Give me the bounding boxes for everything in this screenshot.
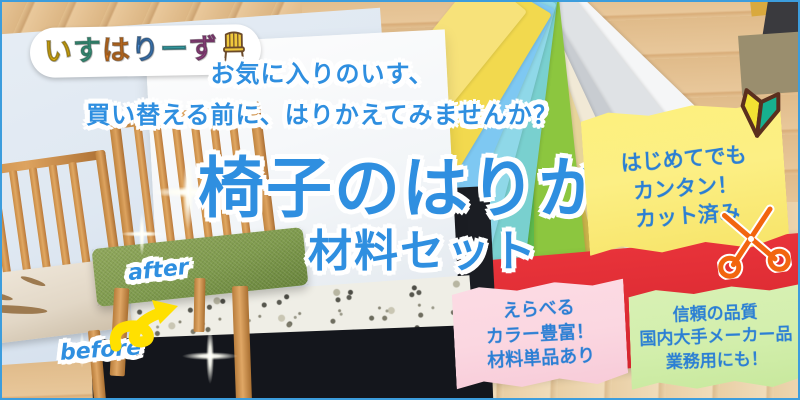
card-green-line-1: 信頼の品質 [672,301,758,327]
card-green-line-2: 国内大手メーカー品 [639,324,793,353]
tagline-line-1: お気に入りのいす、 [2,54,642,89]
scissors-icon [709,197,793,281]
card-pink-line-3: 材料単品あり [487,345,596,375]
curved-arrow-icon [108,294,194,356]
card-green-line-3: 業務用にも！ [665,348,768,375]
promo-banner: い す は り ー ず お気に入りのいす、 買い替える前に、はりかえてみませんか… [0,0,800,400]
card-pink-line-1: えらべる [502,296,575,325]
tagline: お気に入りのいす、 買い替える前に、はりかえてみませんか？ [2,54,642,130]
tagline-line-2: 買い替える前に、はりかえてみませんか？ [2,95,642,130]
wakaba-beginner-icon [735,84,785,141]
feature-card-green: 信頼の品質 国内大手メーカー品 業務用にも！ [628,283,800,393]
page-subtitle: 材料セット [308,230,538,274]
feature-card-pink: えらべる カラー豊富！ 材料単品あり [451,278,628,393]
